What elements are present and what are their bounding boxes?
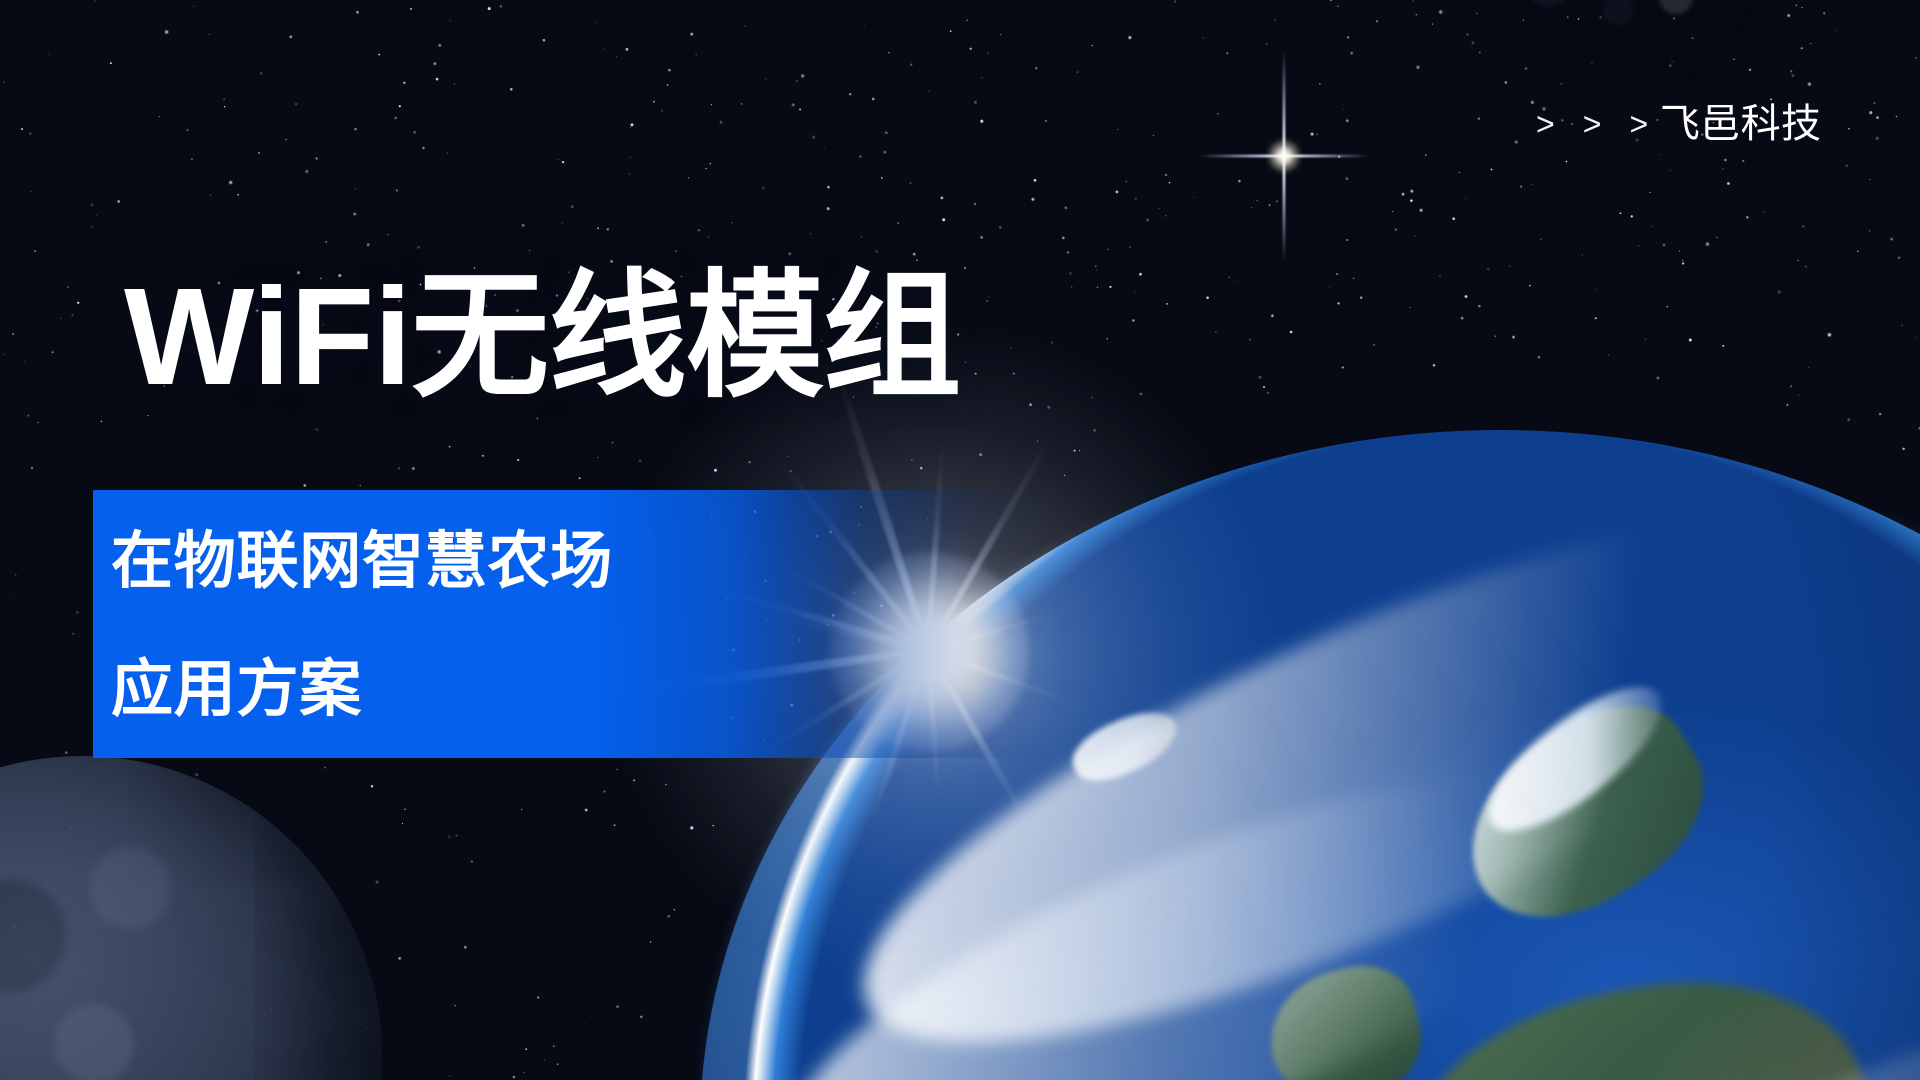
brand-name: 飞邑科技 [1660, 104, 1822, 144]
brand-logo[interactable]: > > > 飞邑科技 [1536, 104, 1821, 144]
chevron-right-icon: > > > [1536, 108, 1658, 140]
subtitle-line-1: 在物联网智慧农场 [111, 498, 1011, 626]
subtitle-line-2: 应用方案 [111, 626, 1011, 754]
page-title: WiFi无线模组 [124, 268, 961, 406]
slide-canvas: > > > 飞邑科技 WiFi无线模组 在物联网智慧农场 应用方案 [0, 0, 1920, 1080]
subtitle-block: 在物联网智慧农场 应用方案 [111, 498, 1011, 754]
